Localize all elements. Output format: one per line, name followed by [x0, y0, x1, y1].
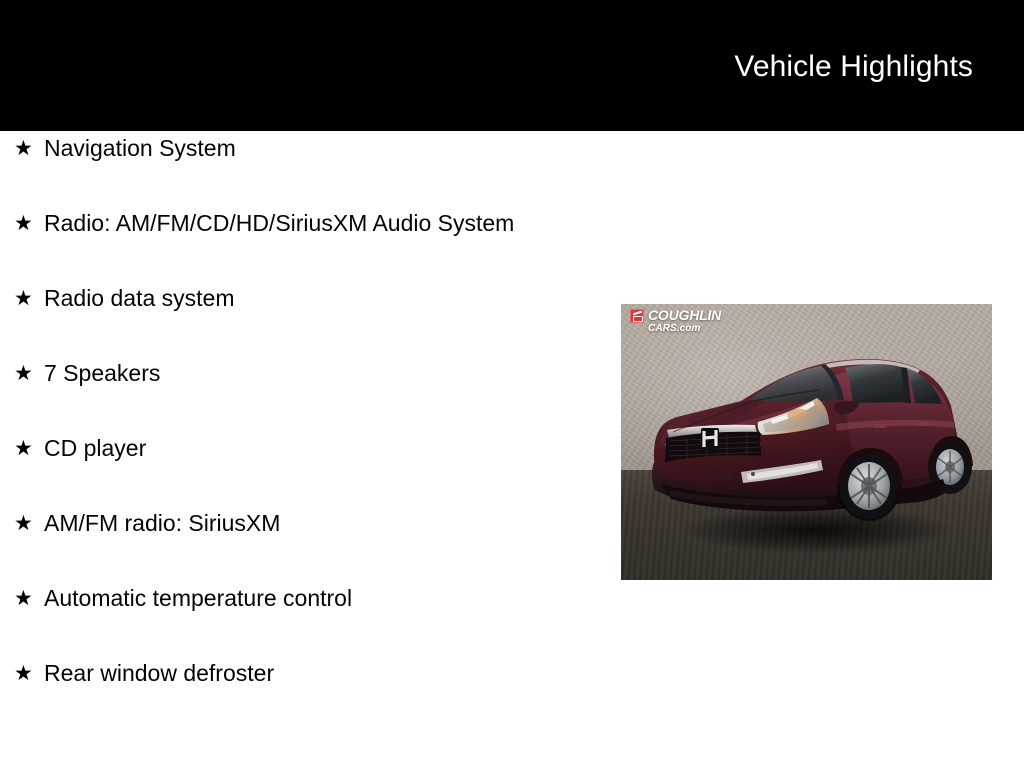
list-item-label: Automatic temperature control	[44, 581, 564, 616]
watermark-brand: COUGHLIN	[648, 308, 721, 323]
list-item-label: CD player	[44, 431, 564, 466]
list-item: ★ Radio: AM/FM/CD/HD/SiriusXM Audio Syst…	[0, 206, 600, 281]
star-bullet-icon: ★	[14, 431, 33, 466]
vehicle-highlights-list: ★ Navigation System ★ Radio: AM/FM/CD/HD…	[0, 131, 600, 731]
list-item: ★ Automatic temperature control	[0, 581, 600, 656]
list-item: ★ Rear window defroster	[0, 656, 600, 731]
dealer-watermark: COUGHLIN CARS.com	[630, 308, 721, 335]
list-item: ★ AM/FM radio: SiriusXM	[0, 506, 600, 581]
list-item: ★ CD player	[0, 431, 600, 506]
star-bullet-icon: ★	[14, 581, 33, 616]
star-bullet-icon: ★	[14, 281, 33, 316]
list-item-label: AM/FM radio: SiriusXM	[44, 506, 564, 541]
watermark-subtext: CARS.com	[648, 323, 700, 335]
list-item-label: Radio data system	[44, 281, 564, 316]
star-bullet-icon: ★	[14, 206, 33, 241]
vehicle-illustration	[621, 304, 992, 580]
list-item: ★ 7 Speakers	[0, 356, 600, 431]
star-bullet-icon: ★	[14, 656, 33, 691]
star-bullet-icon: ★	[14, 131, 33, 166]
header-band: Vehicle Highlights	[0, 0, 1024, 131]
vehicle-photo: COUGHLIN CARS.com	[621, 304, 992, 580]
page-title: Vehicle Highlights	[734, 49, 973, 85]
list-item-label: Navigation System	[44, 131, 564, 166]
list-item-label: Radio: AM/FM/CD/HD/SiriusXM Audio System	[44, 206, 564, 241]
star-bullet-icon: ★	[14, 506, 33, 541]
list-item-label: Rear window defroster	[44, 656, 564, 691]
list-item-label: 7 Speakers	[44, 356, 564, 391]
list-item: ★ Radio data system	[0, 281, 600, 356]
coughlin-logo-icon	[630, 309, 644, 323]
list-item: ★ Navigation System	[0, 131, 600, 206]
star-bullet-icon: ★	[14, 356, 33, 391]
